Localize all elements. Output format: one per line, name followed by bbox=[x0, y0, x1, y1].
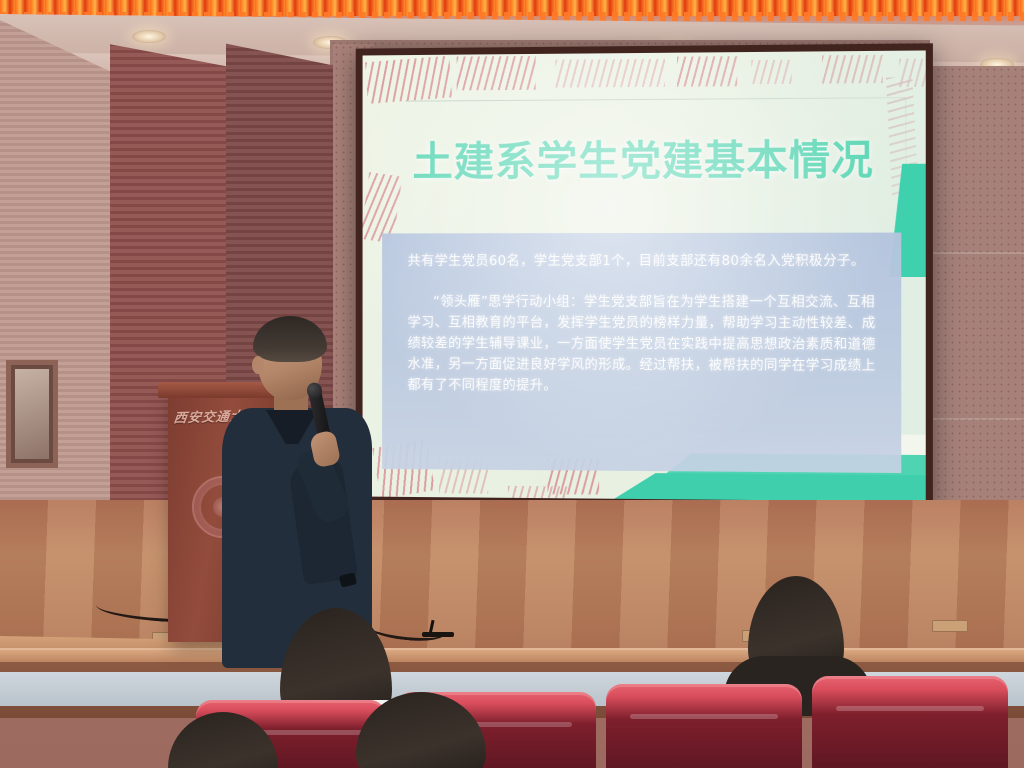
decorative-hatch-icon bbox=[677, 56, 737, 87]
auditorium-seat[interactable] bbox=[812, 676, 1008, 768]
speaker-ear bbox=[252, 356, 264, 374]
decorative-hatch-icon bbox=[751, 60, 791, 84]
decorative-hatch-icon bbox=[822, 55, 883, 84]
decorative-hatch-icon bbox=[555, 59, 665, 88]
wall-recess bbox=[6, 360, 58, 468]
slide-paragraph-1: 共有学生党员60名，学生党支部1个，目前支部还有80余名入党积极分子。 bbox=[408, 251, 879, 272]
left-wall bbox=[0, 20, 120, 580]
presentation-slide: 土建系学生党建基本情况 共有学生党员60名，学生党支部1个，目前支部还有80余名… bbox=[363, 50, 926, 501]
slide-title: 土建系学生党建基本情况 bbox=[363, 125, 926, 188]
stage-floor-plate bbox=[932, 620, 968, 632]
ceiling-downlight bbox=[132, 30, 166, 43]
slide-content-box: 共有学生党员60名，学生党支部1个，目前支部还有80余名入党积极分子。 “领头雁… bbox=[382, 233, 901, 473]
slide-paragraph-2: “领头雁”思学行动小组：学生党支部旨在为学生搭建一个互相交流、互相学习、互相教育… bbox=[408, 292, 879, 398]
auditorium-seat[interactable] bbox=[606, 684, 802, 768]
slide-divider bbox=[406, 97, 906, 102]
decorative-hatch-icon bbox=[365, 56, 452, 104]
lecture-hall-photo: 土建系学生党建基本情况 共有学生党员60名，学生党支部1个，目前支部还有80余名… bbox=[0, 0, 1024, 768]
projection-screen: 土建系学生党建基本情况 共有学生党员60名，学生党支部1个，目前支部还有80余名… bbox=[356, 43, 933, 508]
accent-shape-teal bbox=[611, 473, 926, 502]
floor-microphone bbox=[420, 620, 456, 636]
decorative-hatch-icon bbox=[457, 56, 536, 90]
speaker-hair bbox=[253, 316, 327, 362]
